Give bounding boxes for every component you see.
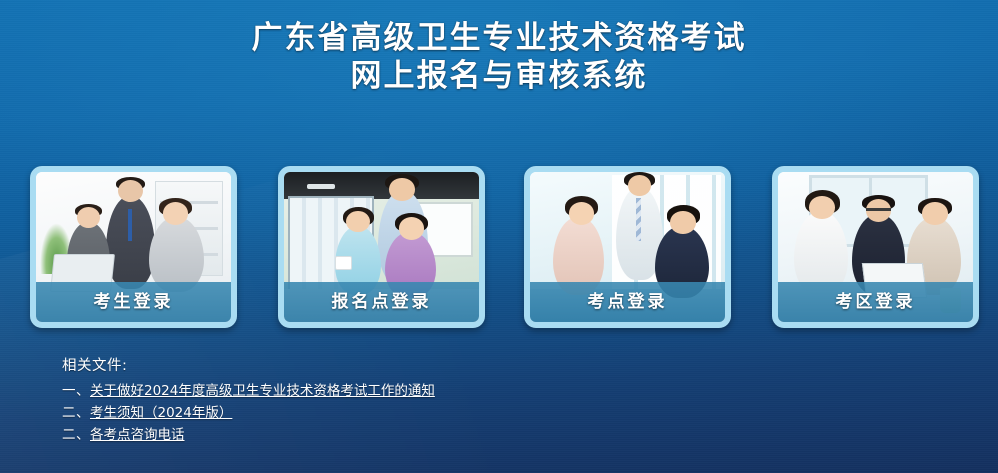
document-link-notice-2024[interactable]: 关于做好2024年度高级卫生专业技术资格考试工作的通知	[90, 383, 435, 399]
login-card-label-exam-site[interactable]: 考点登录	[530, 282, 725, 322]
document-number: 二、	[62, 427, 90, 443]
document-number: 二、	[62, 405, 90, 421]
page-background: 广东省高级卫生专业技术资格考试 网上报名与审核系统	[0, 0, 998, 473]
login-card-exam-area[interactable]: 考区登录	[772, 166, 979, 328]
login-card-candidate[interactable]: 考生登录	[30, 166, 237, 328]
login-card-registration-point[interactable]: 报名点登录	[278, 166, 485, 328]
document-link-candidate-instructions[interactable]: 考生须知（2024年版）	[90, 405, 232, 421]
page-title-line-1: 广东省高级卫生专业技术资格考试	[0, 20, 998, 58]
login-card-row: 考生登录 报名点登录	[0, 166, 998, 334]
login-card-label-exam-area[interactable]: 考区登录	[778, 282, 973, 322]
page-title-line-2: 网上报名与审核系统	[0, 58, 998, 96]
login-card-label-registration-point[interactable]: 报名点登录	[284, 282, 479, 322]
login-card-label-candidate[interactable]: 考生登录	[36, 282, 231, 322]
page-title: 广东省高级卫生专业技术资格考试 网上报名与审核系统	[0, 0, 998, 96]
related-documents-section: 相关文件: 一、关于做好2024年度高级卫生专业技术资格考试工作的通知 二、考生…	[62, 356, 682, 446]
document-row: 一、关于做好2024年度高级卫生专业技术资格考试工作的通知	[62, 380, 682, 402]
document-row: 二、各考点咨询电话	[62, 424, 682, 446]
login-card-exam-site[interactable]: 考点登录	[524, 166, 731, 328]
document-number: 一、	[62, 383, 90, 399]
related-documents-heading: 相关文件:	[62, 356, 682, 377]
document-link-exam-site-phones[interactable]: 各考点咨询电话	[90, 427, 185, 443]
document-row: 二、考生须知（2024年版）	[62, 402, 682, 424]
